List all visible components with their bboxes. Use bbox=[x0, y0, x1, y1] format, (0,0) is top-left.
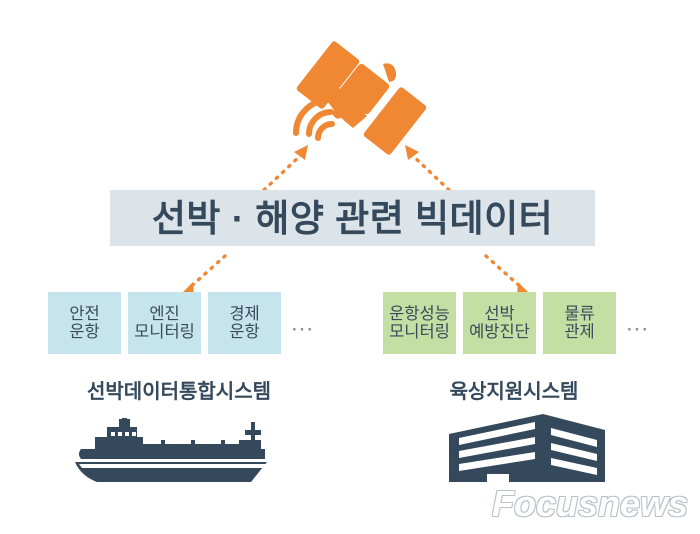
tag-box[interactable]: 선박 예방진단 bbox=[463, 292, 536, 354]
tag-line-1: 엔진 bbox=[149, 305, 179, 323]
tag-box[interactable]: 물류 관제 bbox=[543, 292, 616, 354]
arrow-up-to-satellite-left-icon bbox=[258, 140, 318, 195]
tag-group-ship-data-integration: 안전 운항 엔진 모니터링 경제 운항 ··· bbox=[48, 292, 315, 354]
caption-shore-support-system: 육상지원시스템 bbox=[383, 375, 645, 404]
watermark: Focusnews bbox=[452, 484, 696, 530]
arrow-up-to-satellite-right-icon bbox=[395, 140, 455, 195]
tag-line-2: 모니터링 bbox=[134, 323, 195, 341]
tag-line-1: 경제 bbox=[229, 305, 259, 323]
tag-line-1: 운항성능 bbox=[389, 305, 450, 323]
infographic-canvas: 선박 · 해양 관련 빅데이터 안전 운항 엔진 모니터링 경제 운항 ··· bbox=[0, 0, 700, 534]
ellipsis-more-indicator: ··· bbox=[623, 306, 650, 340]
cargo-ship-icon bbox=[73, 418, 269, 484]
tag-group-shore-support-system: 운항성능 모니터링 선박 예방진단 물류 관제 ··· bbox=[383, 292, 650, 354]
office-building-icon bbox=[447, 412, 607, 488]
tag-line-2: 모니터링 bbox=[389, 323, 450, 341]
tag-line-2: 예방진단 bbox=[469, 323, 530, 341]
ellipsis-more-indicator: ··· bbox=[288, 306, 315, 340]
tag-box[interactable]: 운항성능 모니터링 bbox=[383, 292, 456, 354]
tag-line-1: 선박 bbox=[484, 305, 514, 323]
tag-line-2: 운항 bbox=[69, 323, 99, 341]
caption-ship-data-integration: 선박데이터통합시스템 bbox=[48, 375, 310, 404]
banner-title: 선박 · 해양 관련 빅데이터 bbox=[152, 200, 553, 237]
at-spiral-icon bbox=[452, 488, 492, 530]
main-banner: 선박 · 해양 관련 빅데이터 bbox=[110, 190, 595, 246]
tag-box[interactable]: 엔진 모니터링 bbox=[128, 292, 201, 354]
tag-line-2: 관제 bbox=[564, 323, 594, 341]
tag-box[interactable]: 안전 운항 bbox=[48, 292, 121, 354]
watermark-text: Focusnews bbox=[492, 486, 688, 522]
tag-box[interactable]: 경제 운항 bbox=[208, 292, 281, 354]
tag-line-1: 안전 bbox=[69, 305, 99, 323]
tag-line-2: 운항 bbox=[229, 323, 259, 341]
tag-line-1: 물류 bbox=[564, 305, 594, 323]
